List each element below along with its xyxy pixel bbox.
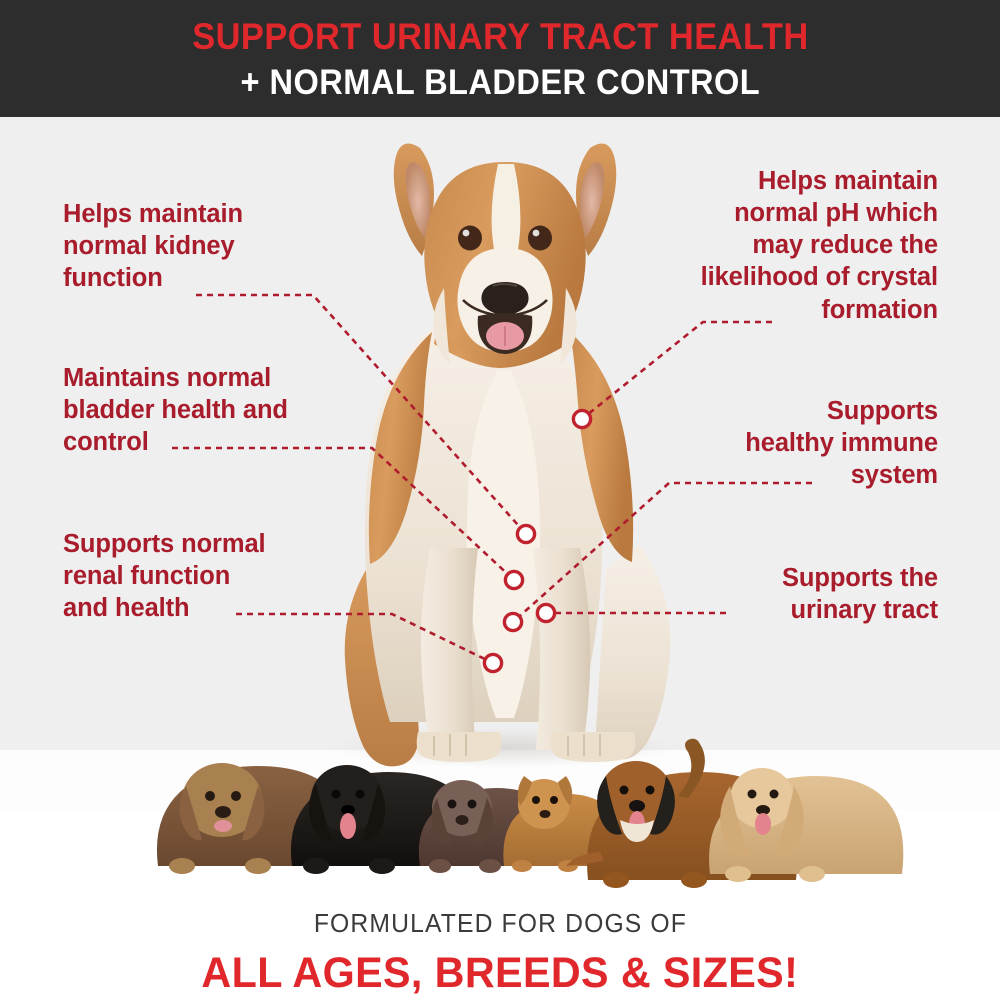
header-title-primary: SUPPORT URINARY TRACT HEALTH	[192, 18, 808, 55]
header-banner: SUPPORT URINARY TRACT HEALTH + NORMAL BL…	[0, 0, 1000, 117]
callout-renal: Supports normal renal function and healt…	[63, 528, 363, 624]
callout-urinary: Supports the urinary tract	[688, 562, 938, 626]
callout-kidney: Helps maintain normal kidney function	[63, 198, 353, 294]
footer-line-formulated: FORMULATED FOR DOGS OF	[313, 908, 686, 939]
footer-line-all-ages: ALL AGES, BREEDS & SIZES!	[202, 949, 799, 998]
callout-immune: Supports healthy immune system	[668, 395, 938, 491]
callout-ph: Helps maintain normal pH which may reduc…	[608, 165, 938, 326]
stage-floor	[0, 750, 1000, 810]
footer-banner: FORMULATED FOR DOGS OF ALL AGES, BREEDS …	[0, 810, 1000, 989]
header-title-secondary: + NORMAL BLADDER CONTROL	[240, 65, 760, 100]
infographic-page: SUPPORT URINARY TRACT HEALTH + NORMAL BL…	[0, 0, 1000, 989]
callout-bladder: Maintains normal bladder health and cont…	[63, 362, 383, 458]
